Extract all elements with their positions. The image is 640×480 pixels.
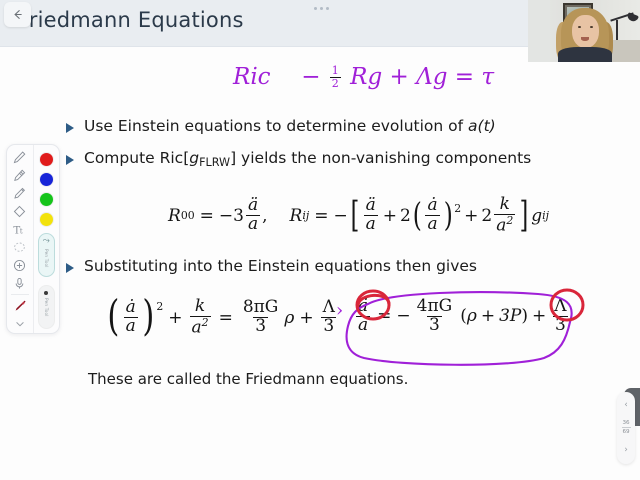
ink-token-lambdag: Λg <box>416 64 447 90</box>
closing-statement: These are called the Friedmann equations… <box>88 370 408 388</box>
eraser-tool[interactable] <box>9 203 31 221</box>
num-4piG: 4πG <box>415 298 455 316</box>
svg-text:t: t <box>20 226 23 235</box>
text-icon: T t <box>12 222 27 237</box>
bracket-open: [ <box>350 206 359 226</box>
lasso-icon <box>12 240 27 255</box>
plus-circle-icon <box>12 258 27 273</box>
previous-page-button[interactable]: ‹ <box>624 401 628 410</box>
presenter-torso <box>558 47 612 62</box>
color-swatch-yellow[interactable] <box>40 213 53 226</box>
pen-preset-label: Pen Tool <box>44 298 49 317</box>
pen-preset-label: Pen Tool <box>44 249 49 268</box>
pen-dot-icon <box>44 291 48 295</box>
toolbar-divider <box>11 294 29 295</box>
microphone-tool[interactable] <box>9 274 31 292</box>
presenter-eye <box>578 26 581 28</box>
pen-preset-2[interactable]: Pen Tool <box>38 285 55 329</box>
ink-token-half: 1 2 <box>330 65 341 89</box>
marker-tool[interactable] <box>9 185 31 203</box>
bullet-3-text: Substituting into the Einstein equations… <box>84 258 477 276</box>
bullet-2-text: Compute Ric[gFLRW] yields the non-vanish… <box>84 150 531 170</box>
toolbar-tools-column: T t <box>7 145 33 333</box>
current-page: 36 <box>622 420 631 427</box>
den-a-squared: a2 <box>494 214 515 235</box>
acceleration-term: ä <box>356 298 370 316</box>
expand-toolbar-button[interactable] <box>9 315 31 333</box>
laser-pointer-tool[interactable] <box>9 297 31 315</box>
annotation-toolbar[interactable]: T t <box>6 144 60 334</box>
laser-icon <box>12 298 28 314</box>
paren-close: ) <box>443 205 452 225</box>
paren-open: ( <box>413 205 422 225</box>
pen-nib-icon: ⤳ <box>43 237 50 246</box>
pen-preset-1[interactable]: ⤳ Pen Tool <box>38 233 55 277</box>
ink-token-rg: Rg <box>350 64 382 90</box>
presenter-webcam[interactable] <box>528 0 640 62</box>
chevron-down-icon <box>13 317 27 331</box>
den-a-squared: a2 <box>190 316 211 337</box>
more-options-icon <box>326 7 329 10</box>
eraser-icon <box>12 204 27 219</box>
bracket-close: ] <box>520 206 529 226</box>
presenter-eye <box>590 26 593 28</box>
microphone-icon <box>12 276 27 291</box>
equation-friedmann-second: äa = − 4πG3 ( ρ + 3P ) + Λ3 <box>354 298 571 334</box>
page-navigation[interactable]: ‹ 36 69 › <box>617 392 635 464</box>
lambda-term: Λ <box>552 298 568 316</box>
ink-token-plus: + <box>389 64 408 90</box>
bullet-triangle-icon <box>66 263 74 273</box>
toolbar-colors-column: ⤳ Pen Tool Pen Tool <box>33 145 60 333</box>
more-options-button[interactable] <box>305 2 337 14</box>
more-options-icon <box>314 7 317 10</box>
more-options-icon <box>320 7 323 10</box>
text-tool[interactable]: T t <box>9 221 31 239</box>
page-title: Friedmann Equations <box>18 8 244 32</box>
bullet-item-1: Use Einstein equations to determine evol… <box>66 118 496 136</box>
presenter-face <box>572 15 599 48</box>
bullet-1-text: Use Einstein equations to determine evol… <box>84 118 496 136</box>
next-page-button[interactable]: › <box>624 446 628 455</box>
back-arrow-icon <box>11 8 24 21</box>
bullet-item-3: Substituting into the Einstein equations… <box>66 258 477 276</box>
color-swatch-green[interactable] <box>40 193 53 206</box>
num-8piG: 8πG <box>241 299 281 317</box>
total-pages: 69 <box>622 429 631 436</box>
equation-ricci-components: R00 = −3 äa , Rij = − [ äa + 2 ( ȧa )… <box>168 196 549 235</box>
ink-comma: › <box>336 300 343 321</box>
webcam-wall-left <box>528 0 550 62</box>
lasso-select-tool[interactable] <box>9 239 31 257</box>
ink-token-equals: = <box>455 64 474 90</box>
bullet-1-math: a(t) <box>468 117 496 135</box>
insert-tool[interactable] <box>9 256 31 274</box>
back-button[interactable] <box>4 2 31 27</box>
page-indicator: 36 69 <box>622 420 631 437</box>
presenter-mouth <box>581 37 589 41</box>
bullet-item-2: Compute Ric[gFLRW] yields the non-vanish… <box>66 150 531 170</box>
color-swatch-red[interactable] <box>40 153 53 166</box>
page-divider <box>622 427 631 428</box>
equation-friedmann-first: ( ȧa ) 2 + ka2 = 8πG3 ρ + Λ3 <box>105 298 339 337</box>
pen-tool[interactable] <box>9 149 31 167</box>
highlighter-icon <box>12 168 27 183</box>
pen-icon <box>12 150 27 165</box>
ink-token-ric: Ric <box>233 64 271 90</box>
ink-token-minus: − <box>301 64 320 90</box>
bullet-triangle-icon <box>66 155 74 165</box>
paren-close: ) <box>142 304 154 330</box>
ink-token-tau: τ <box>481 64 494 90</box>
slide-viewer: Friedmann Equations <box>0 0 640 480</box>
bullet-triangle-icon <box>66 123 74 133</box>
handwritten-einstein-equation: Ric − 1 2 Rg + Λg = τ <box>233 64 494 90</box>
paren-open: ( <box>107 304 119 330</box>
marker-icon <box>12 186 27 201</box>
color-swatch-blue[interactable] <box>40 173 53 186</box>
highlighter-tool[interactable] <box>9 167 31 185</box>
